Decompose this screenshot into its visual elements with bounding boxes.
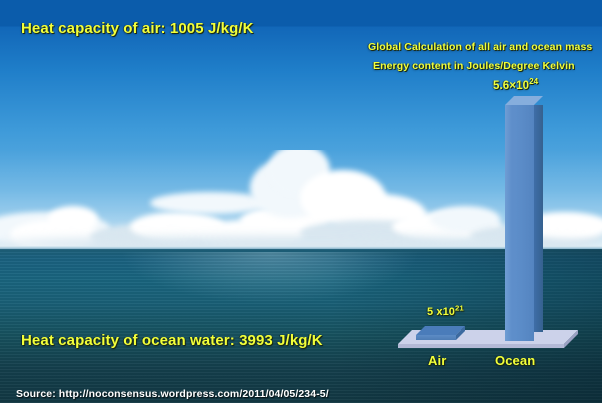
air-value-mantissa: 5 x10 <box>427 306 455 318</box>
ocean-bar-front-face <box>505 105 534 341</box>
air-category-label: Air <box>428 353 446 368</box>
ocean-bar-side-face <box>534 105 543 332</box>
screenshot-root: Heat capacity of air: 1005 J/kg/K Heat c… <box>0 0 602 403</box>
ocean-bar-value-label: 5.6×1024 <box>493 80 538 92</box>
air-bar-value-label: 5 x1021 <box>427 306 464 318</box>
ocean-value-exponent: 24 <box>529 77 538 86</box>
chart-title-line-1: Global Calculation of all air and ocean … <box>368 41 592 53</box>
ocean-heat-capacity-caption: Heat capacity of ocean water: 3993 J/kg/… <box>21 332 323 349</box>
ocean-bar-top-face <box>505 96 543 105</box>
air-heat-capacity-caption: Heat capacity of air: 1005 J/kg/K <box>21 20 254 37</box>
ocean-value-mantissa: 5.6×10 <box>493 80 529 92</box>
air-value-exponent: 21 <box>455 303 464 312</box>
ocean-category-label: Ocean <box>495 353 535 368</box>
air-bar-front-face <box>416 335 456 340</box>
source-citation: Source: http://noconsensus.wordpress.com… <box>16 388 329 400</box>
chart-title-line-2: Energy content in Joules/Degree Kelvin <box>373 60 575 72</box>
